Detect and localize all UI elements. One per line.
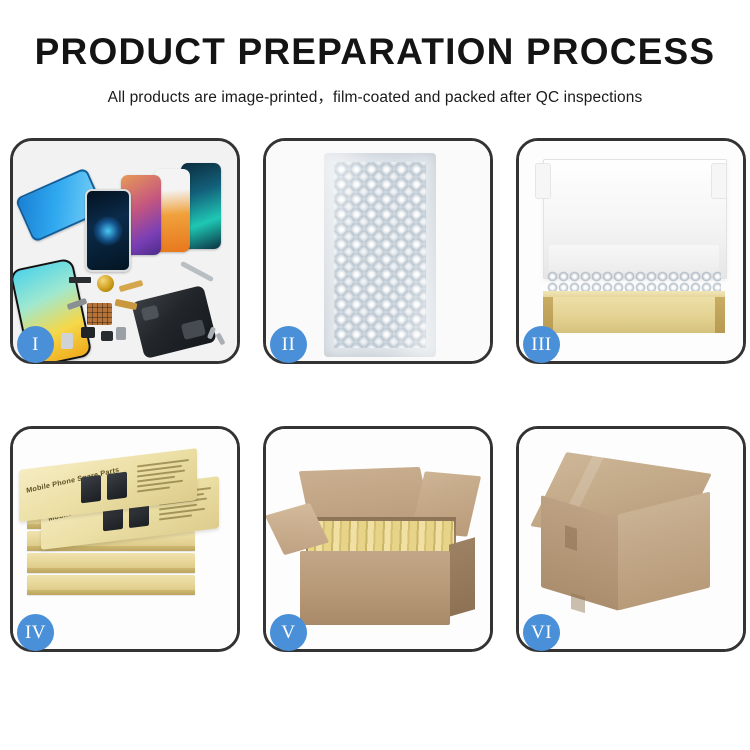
screw-icon: [215, 333, 225, 346]
phone-parts-scene: [13, 141, 237, 361]
step-6-image: [519, 429, 743, 649]
step-badge-6: VI: [523, 614, 560, 651]
foam-layer-icon: [549, 245, 719, 273]
tweezers-icon: [180, 261, 214, 282]
box-label-text: Mobile Phone Spare Parts: [26, 465, 120, 495]
page-header: PRODUCT PREPARATION PROCESS All products…: [0, 0, 750, 107]
carton-tape-mark: [571, 593, 585, 613]
step-badge-5: V: [270, 614, 307, 651]
step-1-image: [13, 141, 237, 361]
coil-part-icon: [97, 275, 114, 292]
kraft-box-front-icon: [543, 297, 725, 333]
stacked-box-icon: [27, 553, 195, 573]
stacked-box-icon: [27, 575, 195, 595]
bubble-wrap-pouch-icon: [324, 153, 436, 357]
carton-side-panel: [449, 537, 475, 616]
small-part-icon: [61, 333, 73, 349]
small-part-icon: [81, 327, 95, 338]
step-2-image: [266, 141, 490, 361]
phone-screen-black-icon: [85, 189, 131, 272]
bubble-wrap-scene: [266, 141, 490, 361]
step-5-image: [266, 429, 490, 649]
small-part-icon: [101, 331, 113, 341]
step-4-image: Mobile Phone Spare Parts Mobile Phone Sp…: [13, 429, 237, 649]
box-lid-tab-left: [535, 163, 551, 199]
process-steps-grid: I II III: [10, 138, 742, 652]
step-badge-2: II: [270, 326, 307, 363]
step-badge-1: I: [17, 326, 54, 363]
flex-cable-part-icon: [115, 299, 138, 310]
process-step-card-2[interactable]: II: [263, 138, 493, 364]
open-carton-scene: [266, 429, 490, 649]
box-spec-lines: [137, 459, 189, 497]
sealed-carton-scene: [519, 429, 743, 649]
phone-back-housing-icon: [131, 285, 217, 359]
stacked-boxes-scene: Mobile Phone Spare Parts Mobile Phone Sp…: [13, 429, 237, 649]
process-step-card-3[interactable]: III: [516, 138, 746, 364]
box-lid-tab-right: [711, 163, 727, 199]
step-badge-3: III: [523, 326, 560, 363]
small-part-icon: [69, 277, 91, 283]
carton-tape-mark: [565, 525, 577, 551]
carton-front-panel: [300, 551, 450, 625]
small-part-icon: [116, 327, 126, 340]
open-inner-box-scene: [519, 141, 743, 361]
bubble-sheen: [324, 153, 436, 357]
box-artwork-phone-icon: [107, 472, 127, 500]
flex-cable-part-icon: [119, 280, 144, 292]
process-step-card-5[interactable]: V: [263, 426, 493, 652]
process-step-card-6[interactable]: VI: [516, 426, 746, 652]
page-subtitle: All products are image-printed，film-coat…: [0, 85, 750, 107]
step-3-image: [519, 141, 743, 361]
step-badge-4: IV: [17, 614, 54, 651]
page-title: PRODUCT PREPARATION PROCESS: [0, 32, 750, 73]
chip-grid-part-icon: [87, 303, 112, 325]
process-step-card-4[interactable]: Mobile Phone Spare Parts Mobile Phone Sp…: [10, 426, 240, 652]
process-step-card-1[interactable]: I: [10, 138, 240, 364]
box-artwork-phone-icon: [81, 475, 101, 503]
